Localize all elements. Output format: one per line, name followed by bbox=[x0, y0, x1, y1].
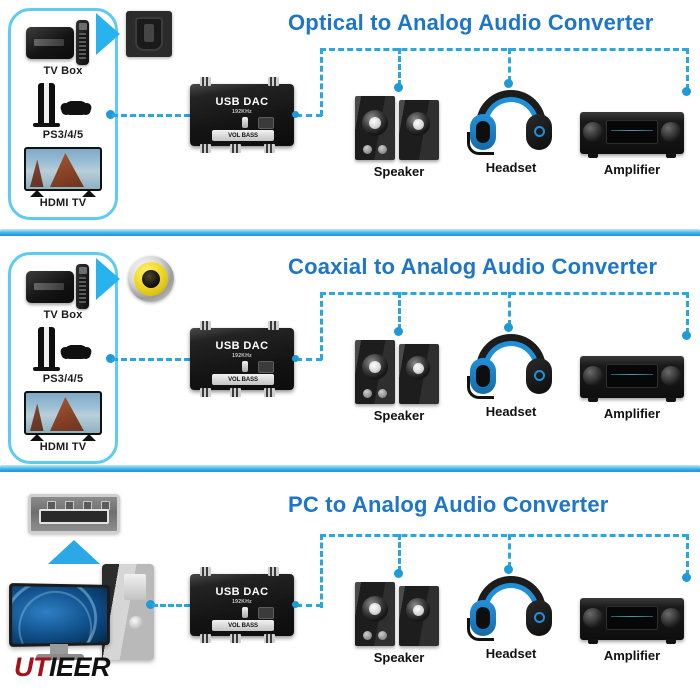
link-drop-amplifier bbox=[686, 534, 689, 576]
link-dot bbox=[504, 323, 513, 332]
section-heading: PC to Analog Audio Converter bbox=[288, 492, 609, 518]
infographic-page: TV Box PS3/4/5 HDMI TV bbox=[0, 0, 700, 700]
link-dot bbox=[504, 79, 513, 88]
source-label: PS3/4/5 bbox=[11, 129, 115, 142]
output-amplifier: Amplifier bbox=[580, 590, 684, 663]
link-dot bbox=[292, 355, 299, 362]
link-dac-out bbox=[296, 114, 322, 117]
dac-button-row[interactable]: VOL BASS bbox=[212, 130, 274, 141]
tv-box-icon bbox=[20, 261, 106, 309]
link-dot bbox=[292, 111, 299, 118]
output-label: Amplifier bbox=[580, 406, 684, 421]
output-headset: Headset bbox=[470, 574, 552, 661]
output-label: Speaker bbox=[355, 650, 443, 665]
link-source-to-dac bbox=[112, 114, 190, 117]
output-label: Headset bbox=[470, 404, 552, 419]
dac-led bbox=[242, 361, 248, 372]
link-drop-speaker bbox=[398, 48, 401, 86]
output-amplifier: Amplifier bbox=[580, 104, 684, 177]
link-riser bbox=[320, 534, 323, 608]
output-speaker: Speaker bbox=[355, 336, 443, 423]
dac-button-label: VOL BASS bbox=[228, 623, 258, 629]
link-riser bbox=[320, 292, 323, 360]
dac-led bbox=[242, 607, 248, 618]
usb-dac-converter: USB DAC 192KHz VOL BASS bbox=[190, 328, 294, 390]
speaker-pair-icon bbox=[355, 578, 443, 648]
dac-button-label: VOL BASS bbox=[228, 377, 258, 383]
usb-type-a-port bbox=[28, 494, 120, 534]
source-label: HDMI TV bbox=[11, 441, 115, 454]
playstation-console-icon bbox=[20, 83, 106, 129]
input-arrow-icon bbox=[96, 13, 120, 55]
brand-logo: UTIEER bbox=[14, 652, 110, 683]
section-heading: Optical to Analog Audio Converter bbox=[288, 10, 654, 36]
link-drop-speaker bbox=[398, 534, 401, 572]
brand-logo-part-b: IEER bbox=[49, 652, 110, 682]
link-drop-headset bbox=[508, 292, 511, 326]
source-label: PS3/4/5 bbox=[11, 373, 115, 386]
tv-box-icon bbox=[20, 17, 106, 65]
link-dot bbox=[394, 569, 403, 578]
dac-led bbox=[242, 117, 248, 128]
hdmi-tv-icon bbox=[20, 147, 106, 197]
link-dot bbox=[682, 573, 691, 582]
hdmi-tv-icon bbox=[20, 391, 106, 441]
brand-logo-part-a: UT bbox=[14, 652, 49, 682]
link-drop-headset bbox=[508, 48, 511, 82]
link-dac-out bbox=[296, 604, 322, 607]
source-hdmi-tv: HDMI TV bbox=[11, 391, 115, 454]
output-bus bbox=[320, 48, 688, 51]
source-label: HDMI TV bbox=[11, 197, 115, 210]
dac-title: USB DAC bbox=[190, 340, 294, 352]
dac-button-label: VOL BASS bbox=[228, 133, 258, 139]
gaming-headset-icon bbox=[470, 574, 552, 644]
coaxial-rca-jack bbox=[128, 256, 174, 302]
section-coaxial: TV Box PS3/4/5 HDMI TV bbox=[0, 236, 700, 468]
output-label: Amplifier bbox=[580, 648, 684, 663]
source-hdmi-tv: HDMI TV bbox=[11, 147, 115, 210]
link-drop-amplifier bbox=[686, 48, 689, 90]
link-dac-out bbox=[296, 358, 322, 361]
dac-title: USB DAC bbox=[190, 96, 294, 108]
link-dot bbox=[682, 331, 691, 340]
output-speaker: Speaker bbox=[355, 92, 443, 179]
usb-dac-converter: USB DAC 192KHz VOL BASS bbox=[190, 84, 294, 146]
dac-optical-in bbox=[258, 607, 274, 619]
section-optical: TV Box PS3/4/5 HDMI TV bbox=[0, 0, 700, 232]
output-bus bbox=[320, 292, 688, 295]
speaker-pair-icon bbox=[355, 92, 443, 162]
link-dot bbox=[682, 87, 691, 96]
gaming-headset-icon bbox=[470, 332, 552, 402]
usb-dac-converter: USB DAC 192KHz VOL BASS bbox=[190, 574, 294, 636]
output-label: Speaker bbox=[355, 164, 443, 179]
source-playstation: PS3/4/5 bbox=[11, 83, 115, 142]
desktop-computer-icon bbox=[10, 564, 160, 664]
input-arrow-icon bbox=[96, 258, 120, 300]
source-label: TV Box bbox=[11, 309, 115, 322]
output-bus bbox=[320, 534, 688, 537]
link-drop-headset bbox=[508, 534, 511, 568]
playstation-console-icon bbox=[20, 327, 106, 373]
link-dot bbox=[394, 83, 403, 92]
output-label: Headset bbox=[470, 160, 552, 175]
output-headset: Headset bbox=[470, 88, 552, 175]
link-source-to-dac bbox=[112, 358, 190, 361]
section-heading: Coaxial to Analog Audio Converter bbox=[288, 254, 657, 280]
output-label: Headset bbox=[470, 646, 552, 661]
dac-title: USB DAC bbox=[190, 586, 294, 598]
output-amplifier: Amplifier bbox=[580, 348, 684, 421]
av-amplifier-icon bbox=[580, 590, 684, 646]
source-label: TV Box bbox=[11, 65, 115, 78]
dac-optical-in bbox=[258, 361, 274, 373]
link-dot bbox=[292, 601, 299, 608]
source-playstation: PS3/4/5 bbox=[11, 327, 115, 386]
output-label: Speaker bbox=[355, 408, 443, 423]
link-drop-amplifier bbox=[686, 292, 689, 334]
gaming-headset-icon bbox=[470, 88, 552, 158]
av-amplifier-icon bbox=[580, 348, 684, 404]
dac-button-row[interactable]: VOL BASS bbox=[212, 620, 274, 631]
link-source-to-dac bbox=[152, 604, 190, 607]
link-dot bbox=[394, 327, 403, 336]
output-speaker: Speaker bbox=[355, 578, 443, 665]
speaker-pair-icon bbox=[355, 336, 443, 406]
link-drop-speaker bbox=[398, 292, 401, 330]
output-label: Amplifier bbox=[580, 162, 684, 177]
link-dot bbox=[504, 565, 513, 574]
input-arrow-icon bbox=[48, 540, 100, 564]
dac-subtitle: 192KHz bbox=[190, 599, 294, 605]
av-amplifier-icon bbox=[580, 104, 684, 160]
output-headset: Headset bbox=[470, 332, 552, 419]
link-riser bbox=[320, 48, 323, 116]
optical-toslink-port bbox=[126, 11, 172, 57]
dac-subtitle: 192KHz bbox=[190, 109, 294, 115]
dac-subtitle: 192KHz bbox=[190, 353, 294, 359]
dac-button-row[interactable]: VOL BASS bbox=[212, 374, 274, 385]
dac-optical-in bbox=[258, 117, 274, 129]
